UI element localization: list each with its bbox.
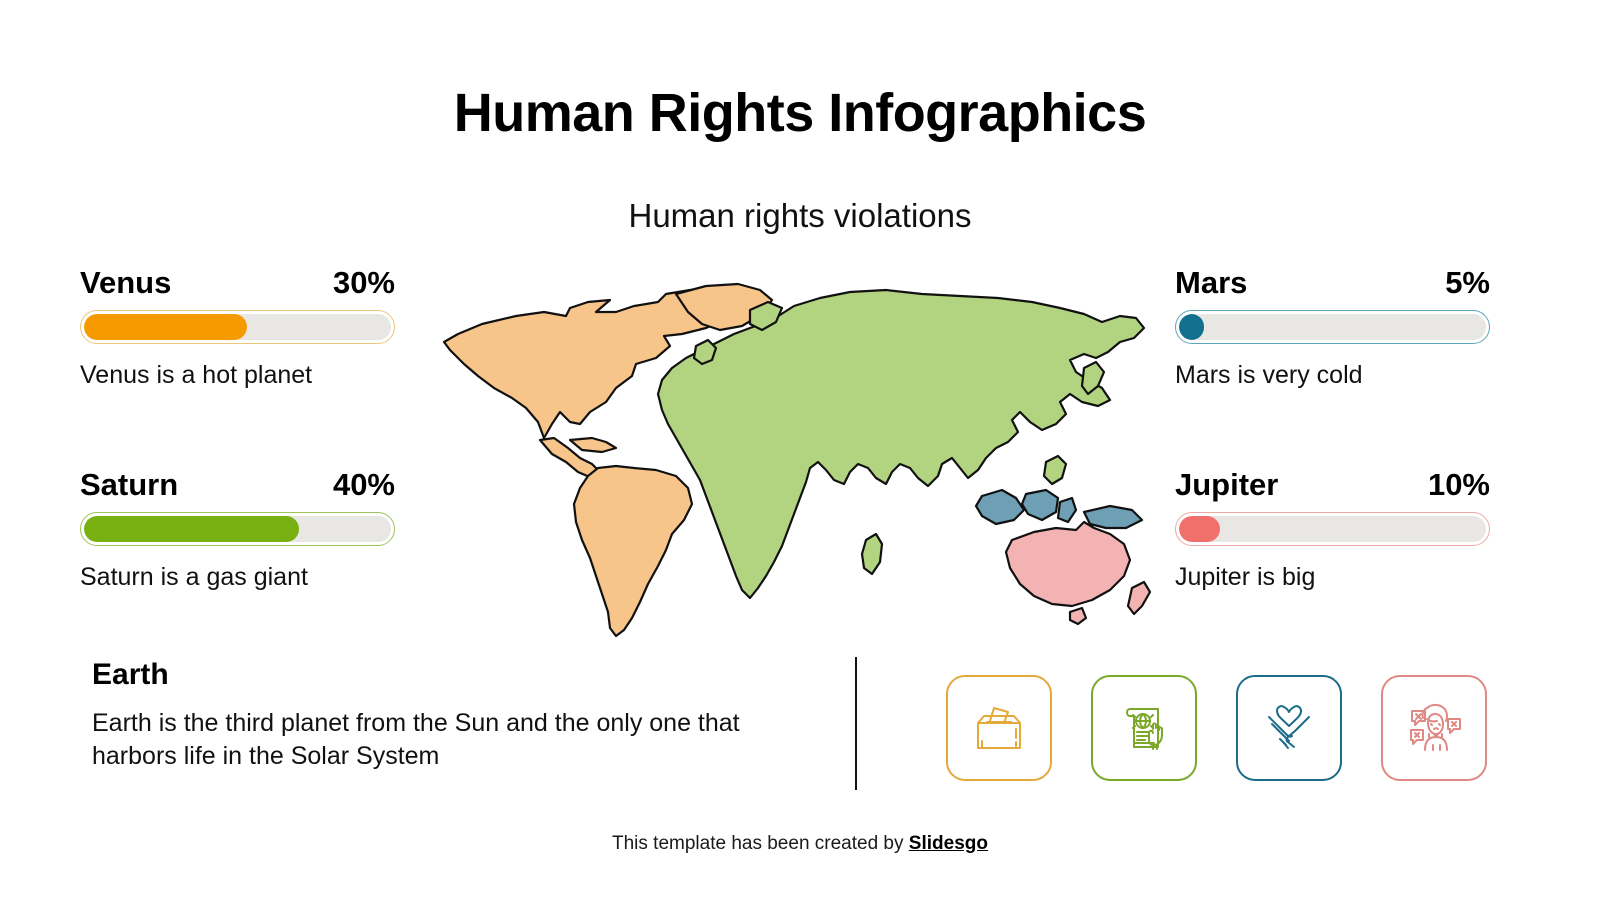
- map-region-philippines: [1044, 456, 1066, 484]
- map-region-australia: [1006, 522, 1130, 606]
- progress-track: [84, 516, 391, 542]
- stat-header: Venus 30%: [80, 266, 395, 300]
- earth-block: Earth Earth is the third planet from the…: [92, 658, 792, 773]
- stat-description: Mars is very cold: [1175, 360, 1490, 391]
- map-region-borneo: [1022, 490, 1058, 520]
- discrimination-person-icon: [1403, 697, 1465, 759]
- progress-fill: [84, 516, 299, 542]
- progress-track: [1179, 314, 1486, 340]
- stat-description: Venus is a hot planet: [80, 360, 395, 391]
- progress-bar-mars[interactable]: [1175, 310, 1490, 344]
- map-region-tasmania: [1070, 608, 1086, 624]
- footer-text: This template has been created by: [612, 833, 909, 854]
- stat-percent: 5%: [1445, 266, 1490, 300]
- stat-description: Jupiter is big: [1175, 562, 1490, 593]
- stat-percent: 10%: [1428, 468, 1490, 502]
- progress-fill: [1179, 516, 1220, 542]
- footer-credit: This template has been created by Slides…: [0, 833, 1600, 855]
- stat-header: Mars 5%: [1175, 266, 1490, 300]
- map-region-caribbean: [570, 438, 616, 452]
- progress-track: [84, 314, 391, 340]
- progress-bar-jupiter[interactable]: [1175, 512, 1490, 546]
- map-region-south-america: [574, 466, 692, 636]
- scroll-globe-fist-icon: [1113, 697, 1175, 759]
- progress-bar-saturn[interactable]: [80, 512, 395, 546]
- icon-card-discrimination[interactable]: [1381, 675, 1487, 781]
- progress-fill: [84, 314, 247, 340]
- ballot-box-icon: [968, 697, 1030, 759]
- map-region-britain: [694, 340, 716, 364]
- handshake-heart-icon: [1258, 697, 1320, 759]
- progress-track: [1179, 516, 1486, 542]
- stat-name: Mars: [1175, 266, 1247, 300]
- earth-description: Earth is the third planet from the Sun a…: [92, 707, 782, 773]
- page-subtitle: Human rights violations: [0, 196, 1600, 236]
- stat-block-saturn: Saturn 40% Saturn is a gas giant: [80, 468, 395, 593]
- earth-title: Earth: [92, 658, 792, 693]
- progress-bar-venus[interactable]: [80, 310, 395, 344]
- stat-header: Jupiter 10%: [1175, 468, 1490, 502]
- stat-name: Saturn: [80, 468, 178, 502]
- stat-name: Venus: [80, 266, 171, 300]
- stat-percent: 40%: [333, 468, 395, 502]
- map-region-sulawesi: [1058, 498, 1076, 522]
- map-region-madagascar: [862, 534, 882, 574]
- map-region-sumatra: [976, 490, 1024, 524]
- map-region-new-zealand: [1128, 582, 1150, 614]
- stat-block-venus: Venus 30% Venus is a hot planet: [80, 266, 395, 391]
- stat-block-jupiter: Jupiter 10% Jupiter is big: [1175, 468, 1490, 593]
- stat-description: Saturn is a gas giant: [80, 562, 395, 593]
- stat-header: Saturn 40%: [80, 468, 395, 502]
- icon-card-ballot-box[interactable]: [946, 675, 1052, 781]
- icon-card-row: [946, 675, 1487, 781]
- progress-fill: [1179, 314, 1204, 340]
- world-map: [420, 272, 1160, 647]
- slidesgo-link[interactable]: Slidesgo: [909, 833, 988, 854]
- page-title: Human Rights Infographics: [0, 84, 1600, 143]
- stat-percent: 30%: [333, 266, 395, 300]
- icon-card-declaration[interactable]: [1091, 675, 1197, 781]
- map-region-new-guinea: [1084, 506, 1142, 528]
- icon-card-solidarity[interactable]: [1236, 675, 1342, 781]
- vertical-divider: [855, 657, 857, 790]
- stat-block-mars: Mars 5% Mars is very cold: [1175, 266, 1490, 391]
- stat-name: Jupiter: [1175, 468, 1278, 502]
